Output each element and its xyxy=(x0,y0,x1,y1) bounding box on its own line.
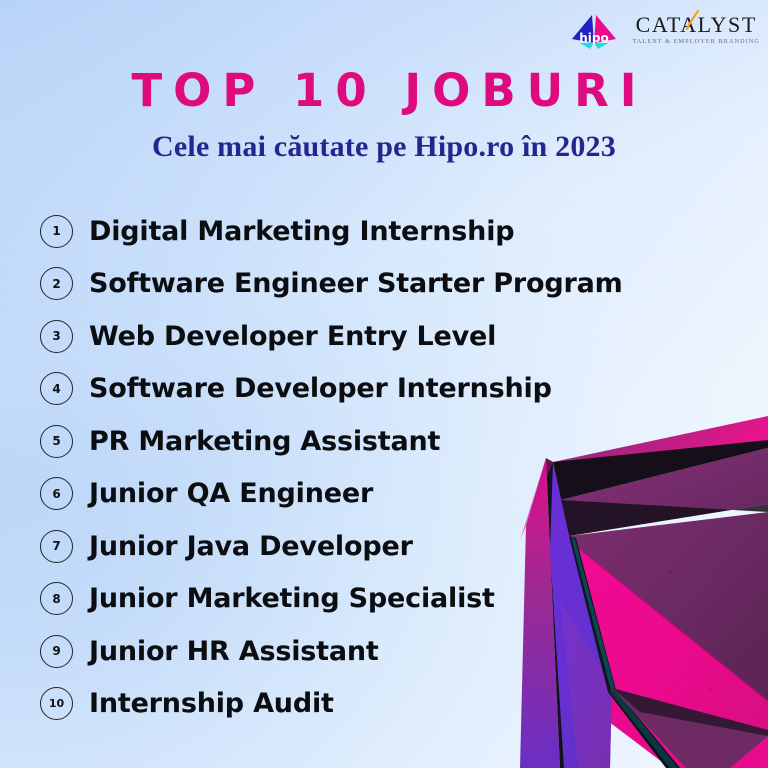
rank-badge: 8 xyxy=(40,582,73,615)
job-title: Software Engineer Starter Program xyxy=(89,268,623,299)
job-title: Web Developer Entry Level xyxy=(89,321,496,352)
logo-bar: hipo CATALYST TALENT & EMPLOYER BRANDING xyxy=(568,8,760,52)
list-item[interactable]: 9 Junior HR Assistant xyxy=(40,625,768,678)
list-item[interactable]: 6 Junior QA Engineer xyxy=(40,468,768,521)
job-title: Junior QA Engineer xyxy=(89,478,373,509)
list-item[interactable]: 2 Software Engineer Starter Program xyxy=(40,258,768,311)
catalyst-logo[interactable]: CATALYST TALENT & EMPLOYER BRANDING xyxy=(632,14,760,45)
job-title: Software Developer Internship xyxy=(89,373,552,404)
hipo-logo[interactable]: hipo xyxy=(568,9,622,51)
list-item[interactable]: 3 Web Developer Entry Level xyxy=(40,310,768,363)
svg-text:hipo: hipo xyxy=(580,31,610,45)
rank-badge: 1 xyxy=(40,215,73,248)
rank-badge: 4 xyxy=(40,372,73,405)
page-subtitle: Cele mai căutate pe Hipo.ro în 2023 xyxy=(0,130,768,164)
list-item[interactable]: 8 Junior Marketing Specialist xyxy=(40,573,768,626)
rank-badge: 3 xyxy=(40,320,73,353)
job-title: Junior HR Assistant xyxy=(89,636,379,667)
list-item[interactable]: 4 Software Developer Internship xyxy=(40,363,768,416)
catalyst-tagline: TALENT & EMPLOYER BRANDING xyxy=(632,39,760,45)
job-title: Junior Java Developer xyxy=(89,531,413,562)
job-title: Junior Marketing Specialist xyxy=(89,583,495,614)
job-title: Internship Audit xyxy=(89,688,334,719)
hipo-logo-mark: hipo xyxy=(568,9,622,51)
list-item[interactable]: 1 Digital Marketing Internship xyxy=(40,205,768,258)
catalyst-wordmark: CATALYST xyxy=(636,14,757,36)
rank-badge: 5 xyxy=(40,425,73,458)
list-item[interactable]: 7 Junior Java Developer xyxy=(40,520,768,573)
rank-badge: 2 xyxy=(40,267,73,300)
job-title: Digital Marketing Internship xyxy=(89,216,514,247)
page-title: TOP 10 JOBURI xyxy=(0,64,768,117)
rank-badge: 6 xyxy=(40,477,73,510)
poster-canvas: hipo CATALYST TALENT & EMPLOYER BRANDING… xyxy=(0,0,768,768)
rank-badge: 7 xyxy=(40,530,73,563)
rank-badge: 9 xyxy=(40,635,73,668)
list-item[interactable]: 10 Internship Audit xyxy=(40,678,768,731)
list-item[interactable]: 5 PR Marketing Assistant xyxy=(40,415,768,468)
rank-badge: 10 xyxy=(40,687,73,720)
job-title: PR Marketing Assistant xyxy=(89,426,440,457)
job-list: 1 Digital Marketing Internship 2 Softwar… xyxy=(40,205,768,730)
